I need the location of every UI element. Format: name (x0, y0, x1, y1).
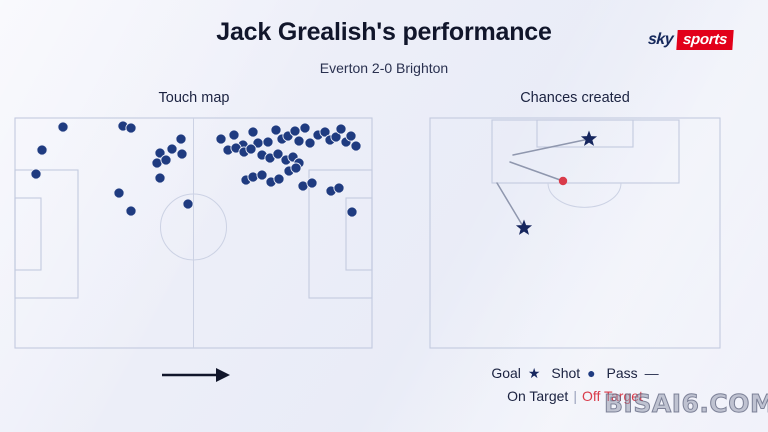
legend-on-target: On Target (507, 388, 568, 404)
legend-shot-label: Shot (551, 365, 580, 381)
pass-line-icon: — (645, 365, 659, 381)
goal-star-icon: ★ (528, 365, 541, 381)
shot-dot-icon: ● (587, 365, 595, 381)
legend-pass-label: Pass (607, 365, 638, 381)
goal-star-marker (581, 131, 597, 146)
legend-goal-label: Goal (491, 365, 521, 381)
legend-symbols: Goal★ Shot● Pass— (430, 365, 720, 382)
sky-sports-player-performance-graphic: Jack Grealish's performance Everton 2-0 … (0, 0, 768, 432)
off-target-shot-marker (559, 177, 567, 185)
pass-line (510, 162, 563, 181)
chances-pitch-lines (430, 118, 720, 348)
pass-line (497, 183, 524, 228)
legend-separator: | (568, 388, 582, 404)
site-watermark: BISAI6.COM (604, 389, 768, 418)
goal-star-marker (516, 220, 532, 235)
